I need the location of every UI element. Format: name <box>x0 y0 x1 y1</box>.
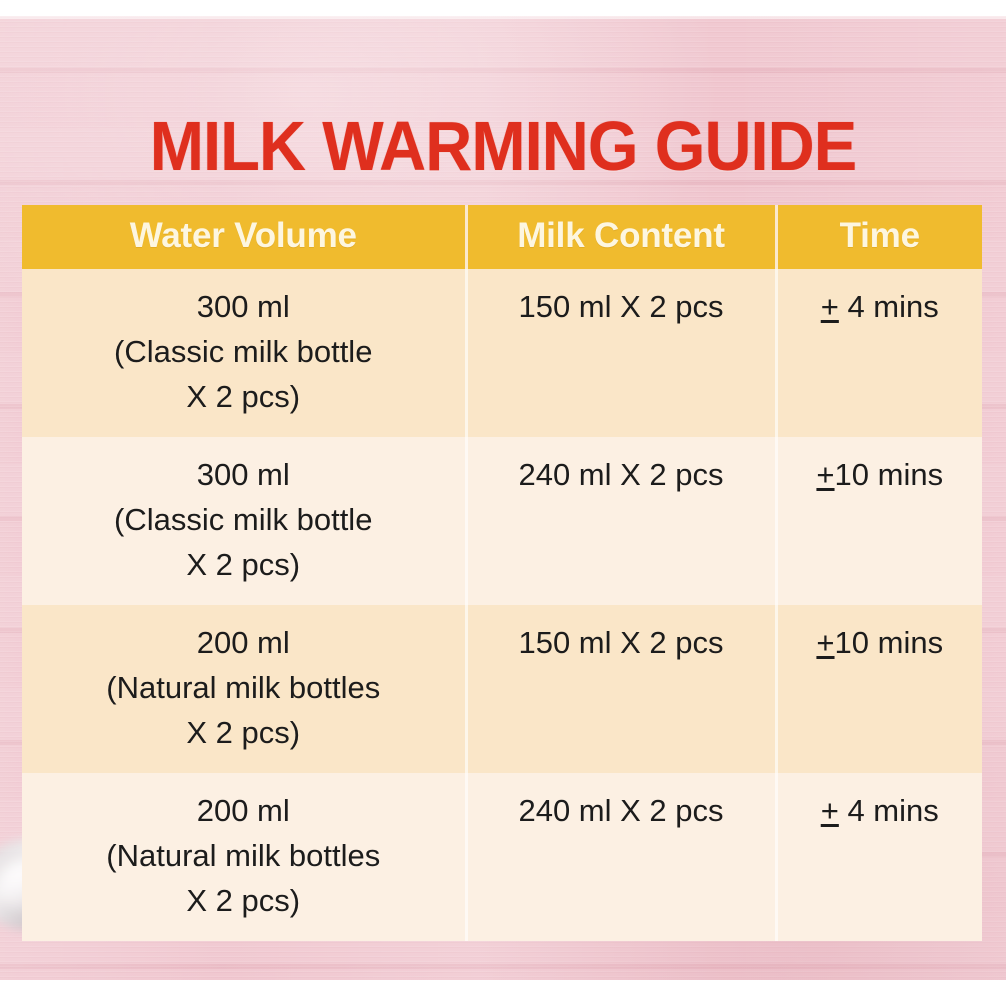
plus-minus-icon: + <box>821 793 839 828</box>
table-row: 200 ml (Natural milk bottles X 2 pcs) 24… <box>22 773 982 941</box>
cell-milk-content: 240 ml X 2 pcs <box>466 773 776 941</box>
cell-water-volume: 200 ml (Natural milk bottles X 2 pcs) <box>22 773 466 941</box>
time-duration: 4 mins <box>839 289 939 324</box>
water-volume-detail-2: X 2 pcs) <box>28 878 459 923</box>
column-header-water-volume: Water Volume <box>22 205 466 269</box>
water-volume-amount: 200 ml <box>28 788 459 833</box>
milk-content-value: 150 ml X 2 pcs <box>474 620 769 665</box>
cell-time: + 4 mins <box>776 269 982 437</box>
time-duration: 10 mins <box>835 625 944 660</box>
table-row: 300 ml (Classic milk bottle X 2 pcs) 240… <box>22 437 982 605</box>
plus-minus-icon: + <box>816 625 834 660</box>
time-value: +10 mins <box>784 452 977 497</box>
water-volume-detail-2: X 2 pcs) <box>28 710 459 755</box>
water-volume-amount: 300 ml <box>28 284 459 329</box>
column-header-milk-content: Milk Content <box>466 205 776 269</box>
milk-content-value: 240 ml X 2 pcs <box>474 788 769 833</box>
time-duration: 4 mins <box>839 793 939 828</box>
plus-minus-icon: + <box>816 457 834 492</box>
milk-content-value: 150 ml X 2 pcs <box>474 284 769 329</box>
table-header-row: Water Volume Milk Content Time <box>22 205 982 269</box>
cell-time: +10 mins <box>776 437 982 605</box>
cell-time: + 4 mins <box>776 773 982 941</box>
table-header: Water Volume Milk Content Time <box>22 205 982 269</box>
time-value: +10 mins <box>784 620 977 665</box>
water-volume-amount: 200 ml <box>28 620 459 665</box>
water-volume-detail-2: X 2 pcs) <box>28 542 459 587</box>
table-row: 200 ml (Natural milk bottles X 2 pcs) 15… <box>22 605 982 773</box>
water-volume-amount: 300 ml <box>28 452 459 497</box>
cell-milk-content: 150 ml X 2 pcs <box>466 605 776 773</box>
water-volume-detail-1: (Natural milk bottles <box>28 665 459 710</box>
water-volume-detail-1: (Classic milk bottle <box>28 497 459 542</box>
water-volume-detail-1: (Classic milk bottle <box>28 329 459 374</box>
table-body: 300 ml (Classic milk bottle X 2 pcs) 150… <box>22 269 982 941</box>
milk-warming-table: Water Volume Milk Content Time 300 ml (C… <box>22 205 982 941</box>
water-volume-detail-1: (Natural milk bottles <box>28 833 459 878</box>
water-volume-detail-2: X 2 pcs) <box>28 374 459 419</box>
milk-content-value: 240 ml X 2 pcs <box>474 452 769 497</box>
cell-water-volume: 200 ml (Natural milk bottles X 2 pcs) <box>22 605 466 773</box>
time-value: + 4 mins <box>784 788 977 833</box>
time-value: + 4 mins <box>784 284 977 329</box>
cell-milk-content: 240 ml X 2 pcs <box>466 437 776 605</box>
plus-minus-icon: + <box>821 289 839 324</box>
cell-water-volume: 300 ml (Classic milk bottle X 2 pcs) <box>22 437 466 605</box>
time-duration: 10 mins <box>835 457 944 492</box>
table-row: 300 ml (Classic milk bottle X 2 pcs) 150… <box>22 269 982 437</box>
milk-warming-table-container: Water Volume Milk Content Time 300 ml (C… <box>22 205 982 941</box>
infographic-canvas: MILK WARMING GUIDE Water Volume Milk Con… <box>0 0 1006 1006</box>
column-header-time: Time <box>776 205 982 269</box>
cell-time: +10 mins <box>776 605 982 773</box>
cell-milk-content: 150 ml X 2 pcs <box>466 269 776 437</box>
cell-water-volume: 300 ml (Classic milk bottle X 2 pcs) <box>22 269 466 437</box>
page-title: MILK WARMING GUIDE <box>35 108 971 184</box>
